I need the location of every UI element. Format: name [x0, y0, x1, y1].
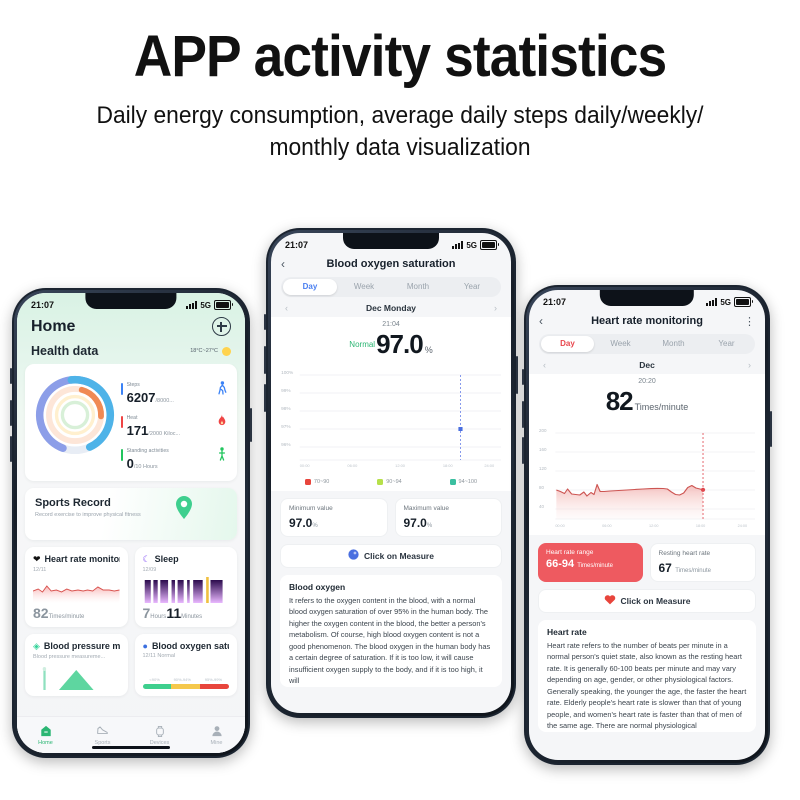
range-unit: Times/minute: [577, 563, 613, 569]
status-time: 21:07: [543, 297, 566, 307]
value-panel: 21:04 Normal97.0% 100%99%98% 97%96%: [271, 317, 511, 491]
current-date: Dec: [639, 360, 655, 370]
date-navigator: ‹ Dec ›: [529, 354, 765, 371]
phone-right: 21:07 5G ‹ Heart rate monitoring ⋮ Day W…: [524, 285, 770, 765]
nav-title: Blood oxygen saturation: [295, 258, 487, 270]
card-value: 82: [33, 605, 49, 621]
segment-week[interactable]: Week: [337, 279, 391, 295]
card-title: Blood oxygen satur: [152, 641, 229, 651]
poster-root: APP activity statistics Daily energy con…: [0, 0, 800, 800]
svg-text:98%: 98%: [281, 406, 291, 411]
blood-oxygen-scale: <90% 90%-94% 95%-99%: [143, 663, 230, 689]
blood-pressure-card[interactable]: ◈ Blood pressure mor Blood pressure meas…: [25, 634, 128, 696]
metric-label: Heat: [127, 415, 138, 421]
legend-label: 90~94: [386, 479, 401, 485]
resting-label: Resting heart rate: [659, 550, 748, 559]
measure-time: 20:20: [529, 376, 765, 385]
more-vertical-icon[interactable]: ⋮: [741, 315, 755, 328]
plus-circle-icon[interactable]: [212, 317, 231, 336]
metric-unit: /10 Hours: [134, 464, 158, 470]
watch-icon: [131, 725, 188, 738]
heart-rate-card[interactable]: ❤ Heart rate monitori 12/11 82Times: [25, 547, 128, 627]
heart-rate-range-card: Heart rate range 66-94 Times/minute: [538, 543, 643, 582]
svg-text:99%: 99%: [281, 388, 291, 393]
card-unit: Hours: [150, 614, 166, 620]
value-number: 97.0: [376, 329, 423, 359]
segment-month[interactable]: Month: [647, 336, 700, 352]
side-button-power: [516, 356, 518, 394]
svg-text:24:00: 24:00: [484, 463, 494, 468]
home-header: Home: [17, 313, 245, 342]
notch: [343, 233, 439, 249]
chart-legend: 70~90 90~94 94~100: [271, 474, 511, 491]
min-value: 97.0: [289, 516, 312, 530]
circle-icon: ●: [143, 641, 148, 651]
metric-value: 171: [127, 423, 149, 438]
nav-bar: ‹ Heart rate monitoring ⋮: [529, 310, 765, 334]
max-value: 97.0: [404, 516, 427, 530]
nav-title: Heart rate monitoring: [553, 315, 741, 327]
current-value: Normal97.0%: [271, 328, 511, 363]
scale-label: 90%-94%: [174, 677, 191, 682]
metric-heat[interactable]: Heat 171/2000 Kiloc...: [121, 406, 229, 439]
card-date: 12/11: [33, 567, 120, 573]
info-title: Blood oxygen: [289, 582, 493, 592]
moon-icon: ☾: [143, 554, 151, 565]
side-button-volume-down: [10, 436, 12, 462]
svg-text:40: 40: [539, 504, 545, 509]
phone-center: 21:07 5G ‹ Blood oxygen saturation Day W…: [266, 228, 516, 718]
status-time: 21:07: [31, 300, 54, 310]
next-date-icon[interactable]: ›: [748, 360, 751, 370]
prev-date-icon[interactable]: ‹: [543, 360, 546, 370]
segment-year[interactable]: Year: [445, 279, 499, 295]
current-value: 82Times/minute: [529, 385, 765, 420]
home-scroll[interactable]: Steps 6207/8000... Heat: [17, 364, 245, 716]
svg-text:12:00: 12:00: [649, 524, 658, 528]
legend-item-high: 94~100: [450, 479, 478, 485]
value-number: 82: [606, 386, 633, 416]
max-label: Maximum value: [404, 505, 494, 514]
chevron-left-icon[interactable]: ‹: [539, 314, 553, 328]
measure-label: Click on Measure: [364, 551, 434, 561]
person-icon: [188, 725, 245, 738]
info-text: Heart rate refers to the number of beats…: [547, 640, 747, 732]
signal-icon: [186, 301, 197, 309]
status-badge: Normal: [349, 340, 375, 349]
chevron-left-icon[interactable]: ‹: [281, 257, 295, 271]
measure-time: 21:04: [271, 319, 511, 328]
blood-oxygen-chart[interactable]: 100%99%98% 97%96% 00:0006:0012:00 1: [271, 363, 511, 474]
tab-devices[interactable]: Devices: [131, 725, 188, 746]
walking-icon: [215, 381, 229, 398]
side-button-mute: [10, 368, 12, 384]
card-title: Heart rate monitori: [45, 554, 120, 564]
svg-text:00:00: 00:00: [300, 463, 310, 468]
battery-icon: [480, 240, 497, 250]
card-date: 12/09: [143, 567, 230, 573]
notch: [600, 290, 694, 306]
metric-unit: /2000 Kiloc...: [148, 431, 180, 437]
svg-text:120: 120: [539, 466, 547, 471]
location-pin-icon: [173, 496, 195, 518]
heart-rate-summary-row: Heart rate range 66-94 Times/minute Rest…: [529, 543, 765, 582]
min-unit: %: [312, 523, 317, 529]
info-title: Heart rate: [547, 627, 747, 637]
svg-text:18:00: 18:00: [443, 463, 453, 468]
page-subtitle: Daily energy consumption, average daily …: [87, 100, 714, 165]
svg-text:160: 160: [539, 447, 547, 452]
notch: [85, 293, 176, 309]
minmax-row: Minimum value 97.0% Maximum value 97.0%: [271, 498, 511, 537]
maximum-value-card: Maximum value 97.0%: [395, 498, 503, 537]
mini-card-row-2: ◈ Blood pressure mor Blood pressure meas…: [25, 634, 237, 696]
svg-text:06:00: 06:00: [602, 524, 611, 528]
blood-oxygen-info: Blood oxygen It refers to the oxygen con…: [280, 575, 502, 687]
max-unit: %: [427, 523, 432, 529]
svg-text:12:00: 12:00: [395, 463, 405, 468]
battery-icon: [734, 297, 751, 307]
side-button-volume-up: [264, 346, 266, 374]
svg-text:24:00: 24:00: [738, 524, 747, 528]
heart-icon: [604, 594, 616, 607]
measure-label: Click on Measure: [621, 596, 691, 606]
metrics-list: Steps 6207/8000... Heat: [117, 373, 229, 472]
side-button-mute: [522, 369, 524, 385]
left-screen: 21:07 5G Home Health data: [17, 293, 245, 753]
sleep-bars: [143, 577, 230, 603]
droplet-icon: ◈: [33, 641, 40, 652]
sports-record-card[interactable]: Sports Record Record exercise to improve…: [25, 488, 237, 540]
network-label: 5G: [200, 301, 211, 310]
sun-icon: [222, 347, 231, 356]
tab-label: Devices: [150, 740, 170, 746]
segment-month[interactable]: Month: [391, 279, 445, 295]
flame-icon: [215, 414, 229, 430]
side-button-volume-up: [10, 400, 12, 426]
metric-value: 0: [127, 456, 134, 471]
value-unit: %: [425, 345, 433, 355]
info-text: It refers to the oxygen content in the b…: [289, 595, 493, 687]
blood-pressure-graphic: [33, 664, 120, 690]
heart-rate-info: Heart rate Heart rate refers to the numb…: [538, 620, 756, 732]
card-unit: Times/minute: [49, 614, 85, 620]
svg-text:100%: 100%: [281, 370, 293, 375]
sports-record-title: Sports Record: [25, 488, 237, 509]
period-segmented-control[interactable]: Day Week Month Year: [281, 277, 501, 297]
min-label: Minimum value: [289, 505, 379, 514]
legend-item-mid: 90~94: [377, 479, 401, 485]
health-data-header: Health data 18°C~27°C: [17, 342, 245, 364]
svg-text:00:00: 00:00: [555, 524, 564, 528]
blood-oxygen-card[interactable]: ● Blood oxygen satur 12/11 Normal <90% 9…: [135, 634, 238, 696]
metric-value: 6207: [127, 390, 156, 405]
side-button-power: [250, 408, 252, 442]
side-button-volume-down: [522, 437, 524, 464]
nav-bar: ‹ Blood oxygen saturation: [271, 253, 511, 277]
card-value-2: 11: [166, 605, 181, 621]
resting-value: 67: [659, 561, 672, 575]
legend-label: 94~100: [459, 479, 478, 485]
side-button-volume-down: [264, 384, 266, 412]
next-date-icon[interactable]: ›: [494, 303, 497, 313]
card-title: Blood pressure mor: [44, 641, 120, 651]
phone-left: 21:07 5G Home Health data: [12, 288, 250, 758]
range-value: 66-94: [546, 558, 574, 570]
click-on-measure-button[interactable]: Click on Measure: [280, 544, 502, 568]
legend-item-low: 70~90: [305, 479, 329, 485]
card-date: 12/11 Normal: [143, 653, 230, 659]
svg-text:96%: 96%: [281, 442, 291, 447]
metric-standing[interactable]: Standing activities 0/10 Hours: [121, 439, 229, 472]
prev-date-icon[interactable]: ‹: [285, 303, 288, 313]
health-data-label: Health data: [31, 344, 98, 358]
network-label: 5G: [720, 298, 731, 307]
svg-text:06:00: 06:00: [347, 463, 357, 468]
shoe-icon: [74, 725, 131, 738]
scale-label: 95%-99%: [205, 677, 222, 682]
right-screen: 21:07 5G ‹ Heart rate monitoring ⋮ Day W…: [529, 290, 765, 760]
current-date: Dec Monday: [366, 303, 416, 313]
card-unit-2: Minutes: [181, 614, 202, 620]
svg-text:97%: 97%: [281, 424, 291, 429]
tab-label: Sports: [95, 740, 111, 746]
signal-icon: [452, 241, 463, 249]
side-button-mute: [264, 314, 266, 330]
center-screen: 21:07 5G ‹ Blood oxygen saturation Day W…: [271, 233, 511, 713]
resting-unit: Times/minute: [675, 568, 711, 574]
network-label: 5G: [466, 241, 477, 250]
click-on-measure-button[interactable]: Click on Measure: [538, 589, 756, 613]
tab-mine[interactable]: Mine: [188, 725, 245, 746]
battery-icon: [214, 300, 231, 310]
scale-label: <90%: [149, 677, 159, 682]
metric-unit: /8000...: [156, 398, 174, 404]
value-unit: Times/minute: [635, 402, 689, 412]
metric-label: Standing activities: [127, 448, 169, 454]
home-indicator: [92, 746, 170, 749]
tab-label: Mine: [211, 740, 223, 746]
status-time: 21:07: [285, 240, 308, 250]
metric-label: Steps: [127, 382, 140, 388]
svg-text:200: 200: [539, 428, 547, 433]
svg-text:80: 80: [539, 485, 545, 490]
value-panel: 20:20 82Times/minute 200160120: [529, 374, 765, 535]
segment-day[interactable]: Day: [283, 279, 337, 295]
side-button-volume-up: [522, 401, 524, 428]
segment-day[interactable]: Day: [541, 336, 594, 352]
date-navigator: ‹ Dec Monday ›: [271, 297, 511, 314]
sleep-card[interactable]: ☾ Sleep 12/09: [135, 547, 238, 627]
metric-steps[interactable]: Steps 6207/8000...: [121, 373, 229, 406]
card-title: Sleep: [155, 554, 179, 564]
heart-rate-chart[interactable]: 200160120 8040 00:0006:: [529, 420, 765, 535]
svg-text:18:00: 18:00: [696, 524, 705, 528]
resting-heart-rate-card: Resting heart rate 67 Times/minute: [650, 543, 757, 582]
range-label: Heart rate range: [546, 549, 635, 556]
tab-label: Home: [38, 740, 53, 746]
heart-rate-sparkline: [33, 577, 120, 603]
segment-year[interactable]: Year: [700, 336, 753, 352]
card-date: Blood pressure measureme...: [33, 654, 120, 660]
page-title: APP activity statistics: [32, 0, 768, 86]
segment-week[interactable]: Week: [594, 336, 647, 352]
tab-home[interactable]: Home: [17, 725, 74, 746]
legend-label: 70~90: [314, 479, 329, 485]
blood-drop-icon: [348, 549, 359, 562]
tab-sports[interactable]: Sports: [74, 725, 131, 746]
mini-card-row-1: ❤ Heart rate monitori 12/11 82Times: [25, 547, 237, 627]
weather-temp: 18°C~27°C: [190, 348, 218, 354]
signal-icon: [706, 298, 717, 306]
minimum-value-card: Minimum value 97.0%: [280, 498, 388, 537]
home-title: Home: [31, 318, 75, 336]
period-segmented-control[interactable]: Day Week Month Year: [539, 334, 755, 354]
activity-rings: [33, 373, 117, 457]
standing-icon: [215, 447, 229, 464]
health-data-card[interactable]: Steps 6207/8000... Heat: [25, 364, 237, 481]
home-icon: [17, 725, 74, 738]
side-button-power: [770, 411, 772, 447]
heart-icon: ❤: [33, 554, 41, 565]
sports-record-desc: Record exercise to improve physical fitn…: [25, 509, 237, 518]
